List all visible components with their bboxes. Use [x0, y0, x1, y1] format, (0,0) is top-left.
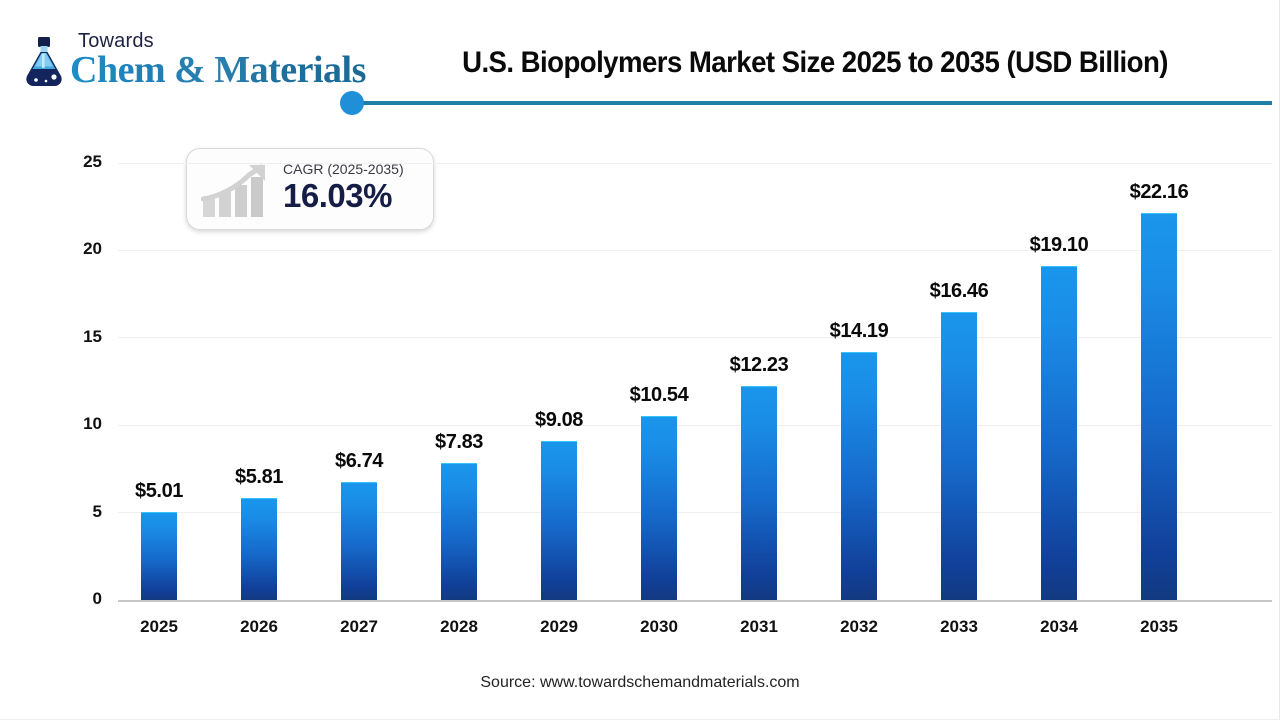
x-axis-tick-label: 2030: [609, 617, 709, 637]
bar-value-label: $14.19: [797, 320, 921, 343]
x-axis-tick-label: 2034: [1009, 617, 1109, 637]
y-axis-tick-label: 5: [40, 502, 102, 522]
x-axis-tick-label: 2033: [909, 617, 1009, 637]
bar-value-label: $7.83: [397, 431, 521, 454]
bar-group[interactable]: $14.192032: [809, 0, 909, 720]
x-axis-tick-label: 2032: [809, 617, 909, 637]
x-axis-tick-label: 2029: [509, 617, 609, 637]
bar[interactable]: [241, 498, 277, 600]
bar[interactable]: [341, 482, 377, 600]
bar-group[interactable]: $5.812026: [209, 0, 309, 720]
y-axis-tick-label: 20: [40, 239, 102, 259]
bar[interactable]: [741, 386, 777, 600]
bar-group[interactable]: $9.082029: [509, 0, 609, 720]
bar[interactable]: [541, 441, 577, 600]
bar-group[interactable]: $22.162035: [1109, 0, 1209, 720]
x-axis-tick-label: 2035: [1109, 617, 1209, 637]
x-axis-tick-label: 2025: [109, 617, 209, 637]
bar-group[interactable]: $19.102034: [1009, 0, 1109, 720]
bar-group[interactable]: $16.462033: [909, 0, 1009, 720]
bar-value-label: $12.23: [697, 354, 821, 377]
bar-chart: 0510152025$5.012025$5.812026$6.742027$7.…: [0, 0, 1280, 720]
bar[interactable]: [141, 512, 177, 600]
bar[interactable]: [1141, 213, 1177, 600]
y-axis-tick-label: 25: [40, 152, 102, 172]
bar-group[interactable]: $6.742027: [309, 0, 409, 720]
bar-value-label: $22.16: [1097, 181, 1221, 204]
bar[interactable]: [841, 352, 877, 600]
bar-group[interactable]: $12.232031: [709, 0, 809, 720]
bar-group[interactable]: $7.832028: [409, 0, 509, 720]
bar-value-label: $10.54: [597, 384, 721, 407]
bar-group[interactable]: $10.542030: [609, 0, 709, 720]
bar-value-label: $9.08: [497, 409, 621, 432]
bar[interactable]: [941, 312, 977, 600]
bar-value-label: $16.46: [897, 280, 1021, 303]
x-axis-tick-label: 2026: [209, 617, 309, 637]
x-axis-tick-label: 2031: [709, 617, 809, 637]
bar[interactable]: [1041, 266, 1077, 600]
x-axis-tick-label: 2027: [309, 617, 409, 637]
bar-group[interactable]: $5.012025: [109, 0, 209, 720]
bar[interactable]: [441, 463, 477, 600]
bar[interactable]: [641, 416, 677, 600]
y-axis-tick-label: 15: [40, 327, 102, 347]
y-axis-tick-label: 0: [40, 589, 102, 609]
source-note: Source: www.towardschemandmaterials.com: [0, 674, 1280, 692]
y-axis-tick-label: 10: [40, 414, 102, 434]
chart-page: Towards Chem & Materials U.S. Biopolymer…: [0, 0, 1280, 720]
bar-value-label: $19.10: [997, 234, 1121, 257]
x-axis-tick-label: 2028: [409, 617, 509, 637]
